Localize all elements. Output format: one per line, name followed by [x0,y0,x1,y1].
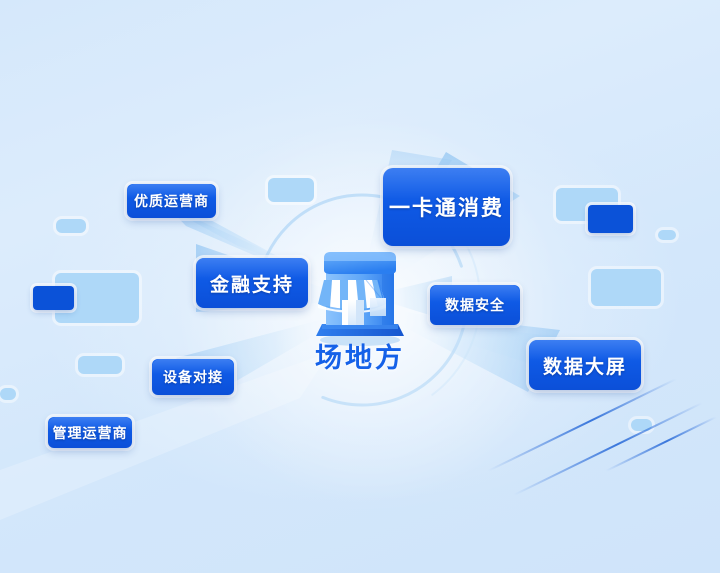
card-one-card-payment[interactable]: 一卡通消费 [383,168,510,246]
deco-rect-light-4 [0,388,16,400]
deco-rect-light-6 [658,230,676,240]
card-data-security[interactable]: 数据安全 [430,285,520,325]
hub-icon-wrapper [300,240,420,350]
deco-rect-light-7 [591,269,661,306]
storefront-icon [300,240,420,350]
deco-rect-light-0 [268,178,314,202]
card-financial-support[interactable]: 金融支持 [196,258,308,308]
deco-rect-solid-1 [588,205,633,233]
deco-rect-light-1 [56,219,86,233]
card-device-docking[interactable]: 设备对接 [152,359,234,395]
card-quality-operator[interactable]: 优质运营商 [127,184,216,218]
card-manage-operator[interactable]: 管理运营商 [48,417,132,448]
illustration-canvas: 场地方 一卡通消费金融支持数据大屏数据安全优质运营商设备对接管理运营商 [0,0,720,573]
card-data-screen[interactable]: 数据大屏 [529,340,641,390]
deco-rect-solid-0 [33,286,74,310]
